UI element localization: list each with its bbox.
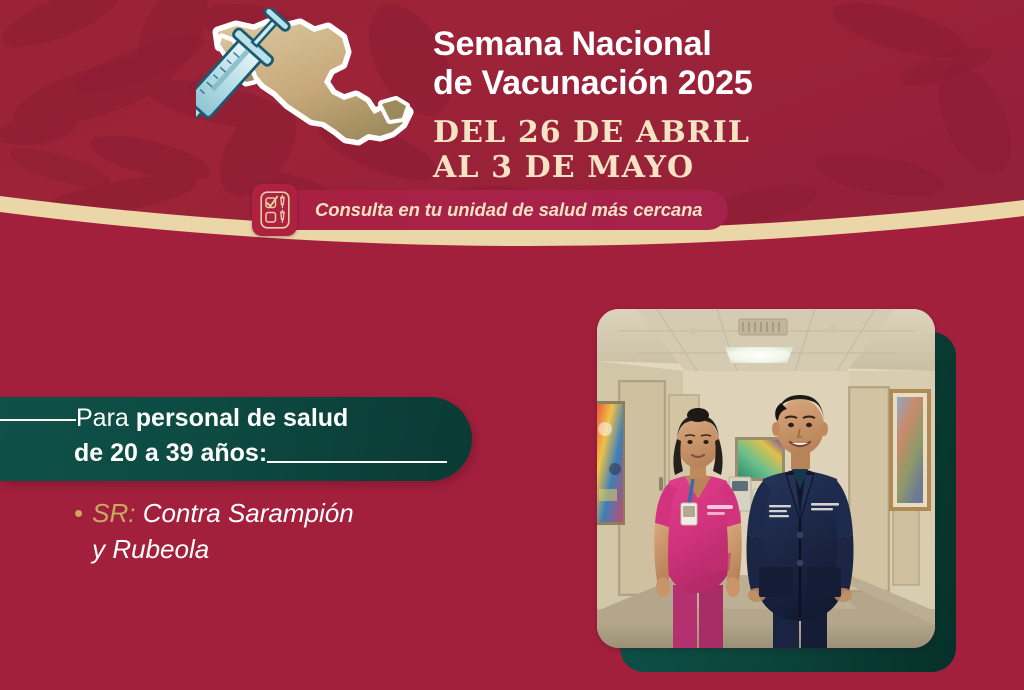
vaccination-checklist-icon (252, 184, 297, 236)
vaccination-campaign-poster: Semana Nacional de Vacunación 2025 DEL 2… (0, 0, 1024, 690)
vaccine-text-line2: y Rubeola (92, 534, 209, 564)
campaign-title-line1: Semana Nacional (433, 25, 933, 64)
list-item: • SR: Contra Sarampión y Rubeola (74, 495, 554, 567)
audience-line1-strong: personal de salud (136, 404, 349, 432)
audience-line2-strong: de 20 a 39 años: (74, 439, 267, 467)
bullet-dot: • (74, 495, 83, 531)
health-workers-hospital-corridor-photo (597, 309, 935, 648)
campaign-logo (196, 8, 428, 188)
campaign-title-block: Semana Nacional de Vacunación 2025 DEL 2… (433, 25, 933, 185)
consulta-banner: Consulta en tu unidad de salud más cerca… (252, 186, 728, 234)
consulta-pill: Consulta en tu unidad de salud más cerca… (285, 190, 728, 230)
audience-prefix: Para (76, 404, 136, 432)
vaccine-abbreviation: SR: (92, 498, 135, 528)
consulta-text: Consulta en tu unidad de salud más cerca… (315, 199, 702, 221)
audience-banner-text: Para personal de salud de 20 a 39 años: (0, 397, 500, 481)
decorative-rule-right (267, 461, 447, 463)
decorative-rule-left (0, 419, 76, 421)
checklist-syringe-glyph (260, 191, 290, 229)
audience-line1: Para personal de salud (76, 402, 348, 434)
vaccine-description: SR: Contra Sarampión y Rubeola (92, 495, 354, 567)
vaccine-text-line1: Contra Sarampión (143, 498, 354, 528)
campaign-title-line2: de Vacunación 2025 (433, 64, 933, 103)
audience-line2: de 20 a 39 años: (74, 437, 267, 469)
mexico-map-syringe-logo (196, 8, 428, 188)
campaign-date-line2: AL 3 DE MAYO (433, 150, 933, 185)
vaccine-list: • SR: Contra Sarampión y Rubeola (74, 495, 554, 567)
campaign-date-line1: DEL 26 DE ABRIL (433, 115, 933, 150)
photo-illustration (597, 309, 935, 648)
